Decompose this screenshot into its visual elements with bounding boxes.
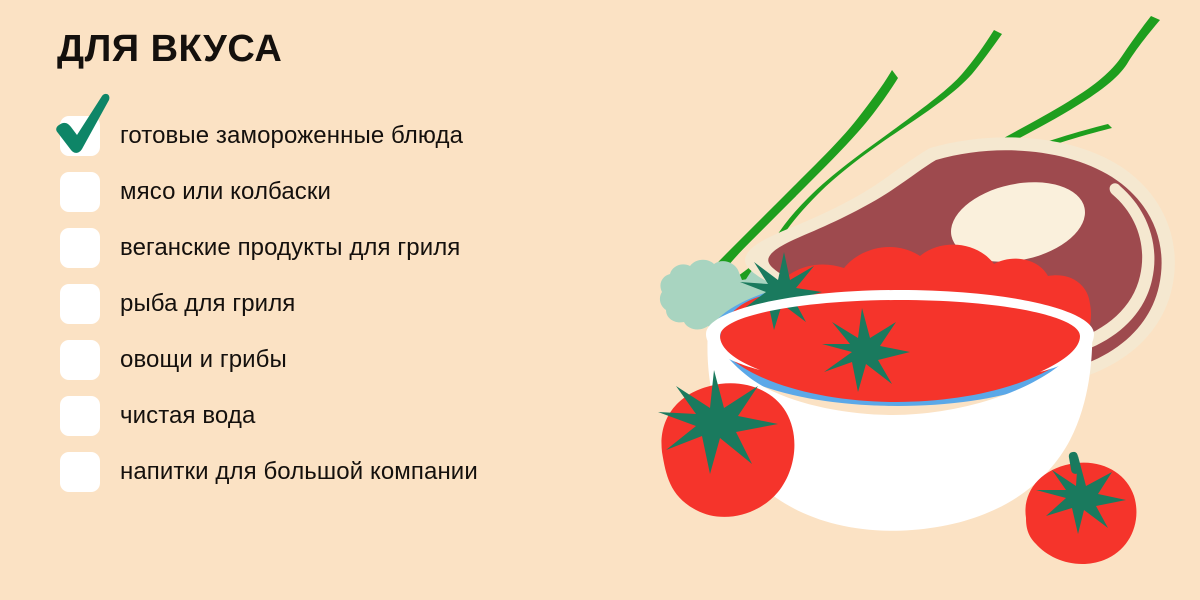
checkbox-4[interactable]	[60, 284, 100, 324]
checklist-item-2[interactable]: мясо или колбаски	[60, 164, 580, 220]
checklist-item-label: напитки для большой компании	[120, 457, 478, 487]
checklist-item-4[interactable]: рыба для гриля	[60, 276, 580, 332]
checklist-item-3[interactable]: веганские продукты для гриля	[60, 220, 580, 276]
page-title: ДЛЯ ВКУСА	[57, 25, 282, 73]
checklist-item-label: веганские продукты для гриля	[120, 233, 460, 263]
checkbox-3[interactable]	[60, 228, 100, 268]
checkbox-6[interactable]	[60, 396, 100, 436]
checklist-item-label: готовые замороженные блюда	[120, 121, 463, 151]
checkbox-5[interactable]	[60, 340, 100, 380]
checklist-item-1[interactable]: готовые замороженные блюда	[60, 108, 580, 164]
checklist-item-label: овощи и грибы	[120, 345, 287, 375]
checklist-item-6[interactable]: чистая вода	[60, 388, 580, 444]
checkbox-7[interactable]	[60, 452, 100, 492]
checklist-item-label: рыба для гриля	[120, 289, 295, 319]
poster-canvas: ДЛЯ ВКУСА готовые замороженные блюда мяс…	[0, 0, 1200, 600]
checklist-item-7[interactable]: напитки для большой компании	[60, 444, 580, 500]
checkbox-2[interactable]	[60, 172, 100, 212]
checkbox-1[interactable]	[60, 116, 100, 156]
checklist-item-label: мясо или колбаски	[120, 177, 331, 207]
checklist-item-label: чистая вода	[120, 401, 255, 431]
grill-food-illustration	[600, 0, 1200, 600]
checklist-item-5[interactable]: овощи и грибы	[60, 332, 580, 388]
check-icon	[56, 94, 114, 156]
checklist: готовые замороженные блюда мясо или колб…	[60, 108, 580, 500]
